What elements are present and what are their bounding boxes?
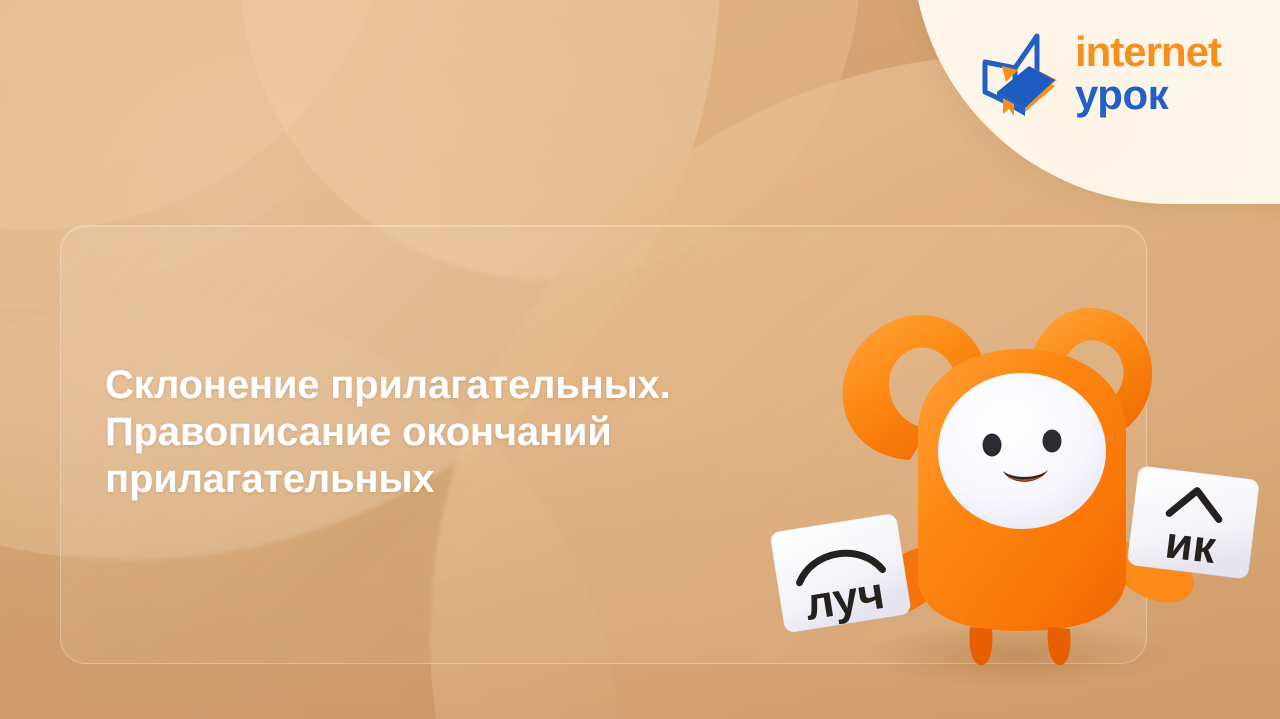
- mascot-eye-left: [983, 434, 1002, 457]
- page-title: Склонение прилагательных. Правописание о…: [105, 362, 865, 503]
- orange-backpack-mascot: луч ик: [760, 255, 1280, 685]
- brand-logo[interactable]: internet урок: [975, 28, 1221, 120]
- slide-canvas: internet урок Склонение прилагательных. …: [0, 0, 1280, 719]
- brand-wordmark: internet урок: [1075, 33, 1221, 114]
- title-line-2: Правописание окончаний: [105, 409, 865, 456]
- title-line-1: Склонение прилагательных.: [105, 362, 865, 409]
- card-root-luch: луч: [769, 513, 911, 634]
- card-word-luch: луч: [801, 567, 887, 630]
- card-suffix-ik: ик: [1127, 465, 1260, 579]
- mascot-face: [938, 373, 1106, 529]
- laptop-book-play-icon: [975, 28, 1061, 120]
- mascot-eye-right: [1043, 430, 1062, 453]
- brand-word-internet: internet: [1075, 33, 1221, 72]
- mascot-shadow: [870, 623, 1170, 687]
- title-line-3: прилагательных: [105, 456, 865, 503]
- brand-word-urok: урок: [1075, 76, 1221, 115]
- card-word-ik: ик: [1163, 516, 1220, 573]
